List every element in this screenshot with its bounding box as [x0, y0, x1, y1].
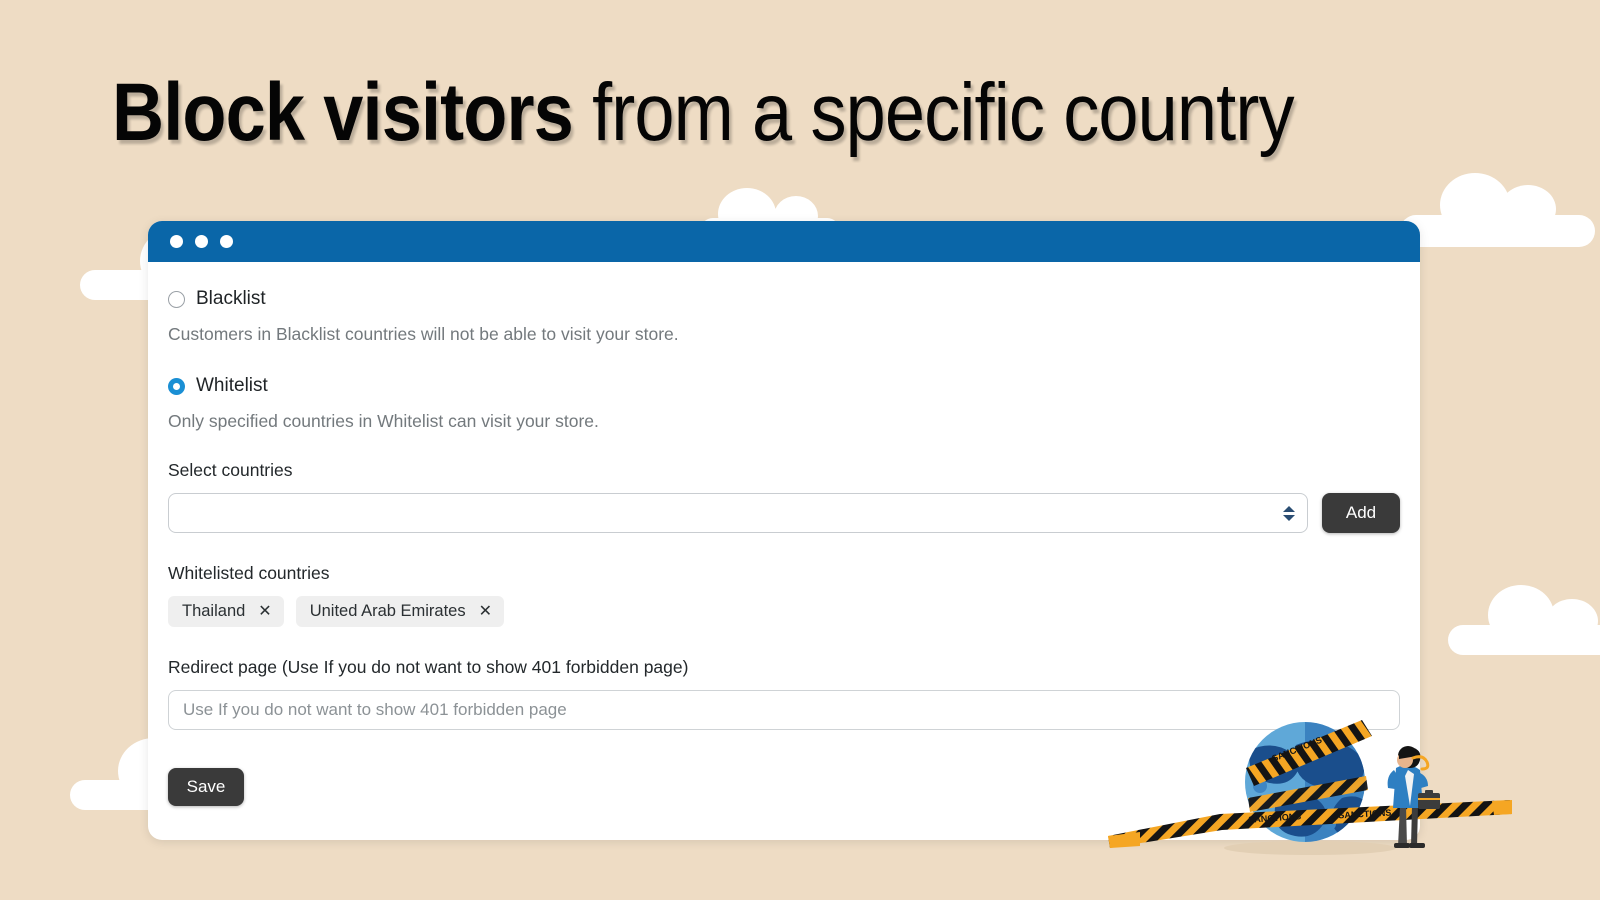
- radio-option-whitelist[interactable]: Whitelist: [168, 375, 1400, 397]
- page-title-strong: Block visitors: [112, 67, 573, 158]
- redirect-page-input[interactable]: [168, 690, 1400, 730]
- window-dot-icon[interactable]: [195, 235, 208, 248]
- select-countries-input[interactable]: [168, 493, 1308, 533]
- page-title: Block visitors from a specific country: [112, 72, 1294, 154]
- country-tag-label: Thailand: [182, 602, 245, 621]
- window-body: Blacklist Customers in Blacklist countri…: [148, 262, 1420, 840]
- country-tag[interactable]: Thailand ✕: [168, 596, 284, 627]
- app-window: Blacklist Customers in Blacklist countri…: [148, 221, 1420, 840]
- whitelisted-countries-list: Thailand ✕ United Arab Emirates ✕: [168, 596, 1400, 627]
- stepper-updown-icon[interactable]: [1283, 503, 1295, 523]
- save-button[interactable]: Save: [168, 768, 244, 806]
- whitelisted-countries-label: Whitelisted countries: [168, 563, 1400, 584]
- cloud-icon: [1400, 215, 1595, 247]
- country-tag-label: United Arab Emirates: [310, 602, 466, 621]
- radio-whitelist-icon[interactable]: [168, 378, 185, 395]
- country-tag[interactable]: United Arab Emirates ✕: [296, 596, 504, 627]
- select-countries-label: Select countries: [168, 460, 1400, 481]
- cloud-icon: [1448, 625, 1600, 655]
- window-dot-icon[interactable]: [220, 235, 233, 248]
- radio-blacklist-label: Blacklist: [196, 288, 266, 310]
- page-title-light: from a specific country: [573, 67, 1294, 158]
- redirect-page-label: Redirect page (Use If you do not want to…: [168, 657, 1400, 678]
- close-icon[interactable]: ✕: [258, 604, 271, 620]
- form-actions: Save: [168, 764, 1400, 806]
- window-titlebar: [148, 221, 1420, 262]
- close-icon[interactable]: ✕: [479, 604, 492, 620]
- select-countries-row: Add: [168, 493, 1400, 533]
- radio-blacklist-icon[interactable]: [168, 291, 185, 308]
- window-dot-icon[interactable]: [170, 235, 183, 248]
- add-country-button[interactable]: Add: [1322, 493, 1400, 533]
- whitelist-help-text: Only specified countries in Whitelist ca…: [168, 411, 1400, 432]
- blacklist-help-text: Customers in Blacklist countries will no…: [168, 324, 1400, 345]
- radio-whitelist-label: Whitelist: [196, 375, 268, 397]
- radio-option-blacklist[interactable]: Blacklist: [168, 288, 1400, 310]
